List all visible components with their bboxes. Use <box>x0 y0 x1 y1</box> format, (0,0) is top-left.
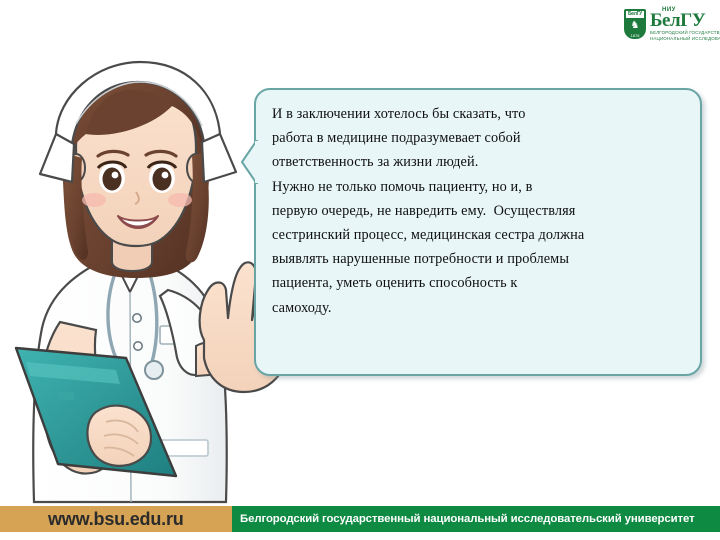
logo-year: 1876 <box>624 33 646 38</box>
logo-wordmark-group: НИУ БелГУ БЕЛГОРОДСКИЙ ГОСУДАРСТВЕННЫЙ Н… <box>650 7 720 41</box>
footer-university-band: Белгородский государственный национальны… <box>232 506 720 532</box>
speech-bubble-text: И в заключении хотелось бы сказать, что … <box>272 102 682 320</box>
footer-university-name: Белгородский государственный национальны… <box>240 513 695 525</box>
presentation-slide: БелГУ ♞ 1876 НИУ БелГУ БЕЛГОРОДСКИЙ ГОСУ… <box>0 0 720 540</box>
university-logo: БелГУ ♞ 1876 НИУ БелГУ БЕЛГОРОДСКИЙ ГОСУ… <box>624 6 710 42</box>
slide-footer: www.bsu.edu.ru Белгородский государствен… <box>0 506 720 532</box>
logo-shield-icon: БелГУ ♞ 1876 <box>624 9 646 39</box>
footer-url-band: www.bsu.edu.ru <box>0 506 232 532</box>
logo-subtitle-line2: НАЦИОНАЛЬНЫЙ ИССЛЕДОВАТЕЛЬСКИЙ <box>650 36 720 41</box>
footer-website-url[interactable]: www.bsu.edu.ru <box>48 509 184 530</box>
logo-main-label: БелГУ <box>650 12 720 30</box>
lion-icon: ♞ <box>629 20 641 32</box>
speech-bubble-tail <box>240 140 266 184</box>
nurse-left-hand <box>87 406 151 466</box>
speech-bubble: И в заключении хотелось бы сказать, что … <box>240 88 702 376</box>
logo-shield-label: БелГУ <box>626 11 644 18</box>
